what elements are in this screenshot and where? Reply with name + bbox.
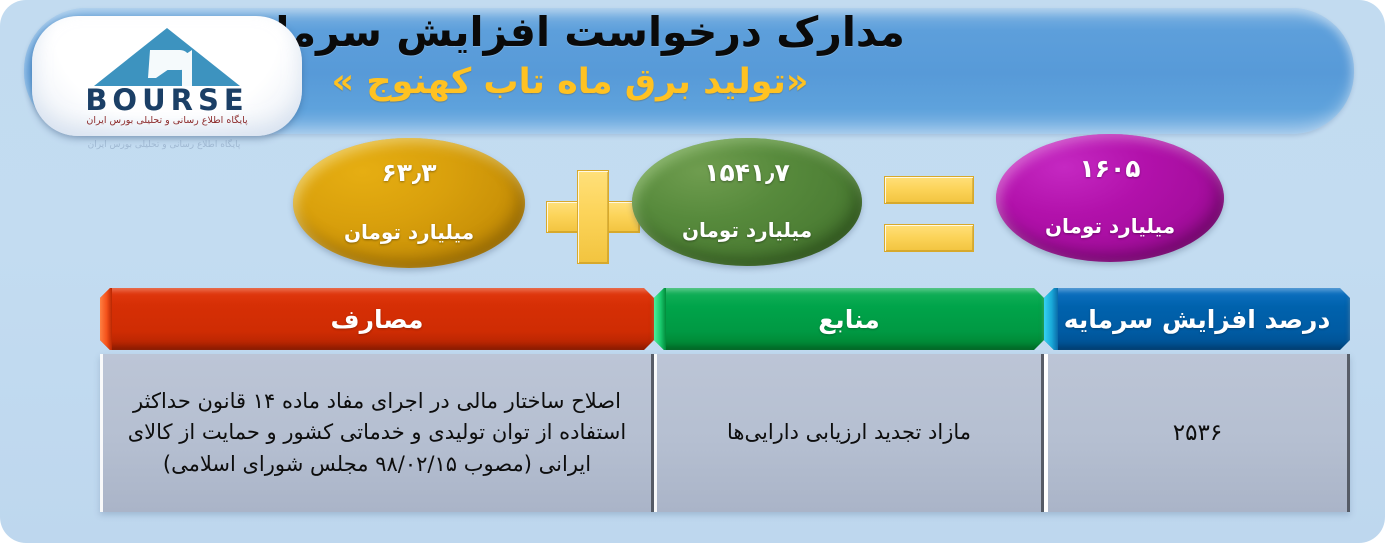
table-header-percent-label: درصد افزایش سرمایه [1064,305,1331,334]
table-header-row: درصد افزایش سرمایه منابع مصارف [100,288,1350,350]
term-value: ۱۵۴۱٫۷ [704,160,790,185]
capital-increase-table: درصد افزایش سرمایه منابع مصارف ۲۵۳۶ مازا… [100,288,1350,518]
bourse-triangle-icon [92,26,242,88]
table-header-uses-label: مصارف [331,305,424,334]
equation-term-total: ۱۶۰۵ میلیارد تومان [996,134,1224,262]
equation-term-revaluation-surplus: ۱۵۴۱٫۷ میلیارد تومان [632,138,862,266]
cell-percent: ۲۵۳۶ [1044,354,1350,512]
equation-term-sources-cash: ۶۳٫۳ میلیارد تومان [293,138,525,268]
table-header-percent: درصد افزایش سرمایه [1044,288,1350,350]
equals-icon [884,176,974,254]
cell-uses: اصلاح ساختار مالی در اجرای مفاد ماده ۱۴ … [100,354,654,512]
cell-percent-value: ۲۵۳۶ [1173,416,1222,450]
term-unit: میلیارد تومان [1045,216,1175,236]
cell-uses-value: اصلاح ساختار مالی در اجرای مفاد ماده ۱۴ … [119,386,635,479]
cell-sources-value: مازاد تجدید ارزیابی دارایی‌ها [727,417,971,448]
term-value: ۱۶۰۵ [1079,156,1140,181]
logo-tagline: پایگاه اطلاع رسانی و تحلیلی بورس ایران [47,116,287,126]
brand-logo[interactable]: BOURSE پایگاه اطلاع رسانی و تحلیلی بورس … [32,16,302,136]
cell-sources: مازاد تجدید ارزیابی دارایی‌ها [654,354,1044,512]
table-header-sources-label: منابع [818,305,880,334]
plus-icon [546,170,640,264]
term-unit: میلیارد تومان [344,222,474,242]
table-header-sources: منابع [654,288,1044,350]
term-unit: میلیارد تومان [682,220,812,240]
term-value: ۶۳٫۳ [381,160,436,185]
infographic-canvas: مدارک درخواست افزایش سرمایه «تولید برق م… [0,0,1385,543]
logo-wordmark: BOURSE [51,86,283,115]
table-header-uses: مصارف [100,288,654,350]
equation-row: ۶۳٫۳ میلیارد تومان ۱۵۴۱٫۷ میلیارد تومان … [0,132,1385,282]
table-row: ۲۵۳۶ مازاد تجدید ارزیابی دارایی‌ها اصلاح… [100,354,1350,512]
